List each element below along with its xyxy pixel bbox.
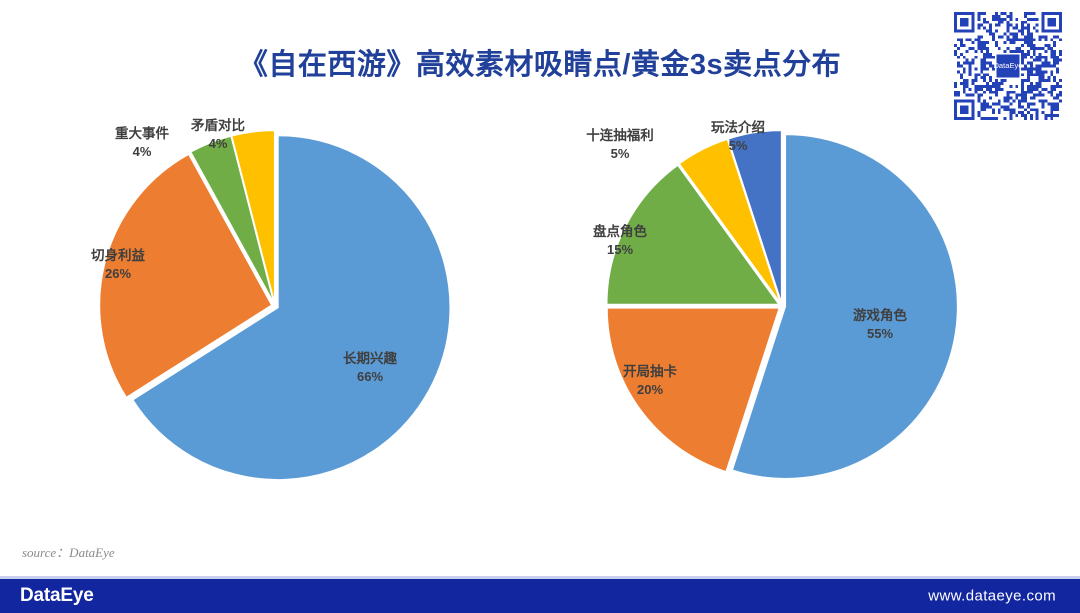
pie-slice-value: 4% bbox=[209, 136, 228, 151]
footer-url[interactable]: www.dataeye.com bbox=[928, 588, 1056, 605]
pie-slice-label: 盘点角色 bbox=[593, 223, 647, 239]
pie-slice-value: 20% bbox=[637, 382, 663, 397]
pie-slice-label: 矛盾对比 bbox=[190, 117, 245, 133]
pie-slice-value: 66% bbox=[357, 369, 383, 384]
footer-logo: DataEye bbox=[20, 585, 94, 607]
pie-slice-value: 55% bbox=[867, 326, 893, 341]
pie-slice-value: 5% bbox=[729, 138, 748, 153]
pie-slice-label: 切身利益 bbox=[91, 247, 145, 263]
qr-code: DataEye bbox=[954, 12, 1062, 120]
pie-slice-label: 长期兴趣 bbox=[343, 350, 397, 366]
pie-slice-value: 26% bbox=[105, 266, 131, 281]
pie-chart-selling-points: 游戏角色55%开局抽卡20%盘点角色15%十连抽福利5%玩法介绍5% bbox=[560, 118, 1020, 498]
qr-code-icon: DataEye bbox=[954, 12, 1062, 120]
pie-slice-label: 重大事件 bbox=[115, 125, 169, 141]
pie-svg-left: 长期兴趣66%切身利益26%重大事件4%矛盾对比4% bbox=[60, 118, 520, 498]
pie-chart-attention-points: 长期兴趣66%切身利益26%重大事件4%矛盾对比4% bbox=[60, 118, 520, 498]
pie-slice-value: 4% bbox=[133, 144, 152, 159]
pie-slice-label: 开局抽卡 bbox=[623, 363, 677, 379]
source-note: source：DataEye bbox=[22, 542, 115, 561]
pie-slice-value: 15% bbox=[607, 242, 633, 257]
pie-slice-label: 玩法介绍 bbox=[711, 119, 765, 135]
qr-center-label: DataEye bbox=[993, 61, 1022, 70]
page-title: 《自在西游》高效素材吸睛点/黄金3s卖点分布 bbox=[0, 48, 1080, 83]
pie-svg-right: 游戏角色55%开局抽卡20%盘点角色15%十连抽福利5%玩法介绍5% bbox=[560, 118, 1020, 498]
pie-slice-label: 十连抽福利 bbox=[586, 127, 654, 143]
footer-bar: DataEye www.dataeye.com bbox=[0, 576, 1080, 613]
pie-slice-value: 5% bbox=[611, 146, 630, 161]
pie-slice-label: 游戏角色 bbox=[853, 307, 907, 323]
